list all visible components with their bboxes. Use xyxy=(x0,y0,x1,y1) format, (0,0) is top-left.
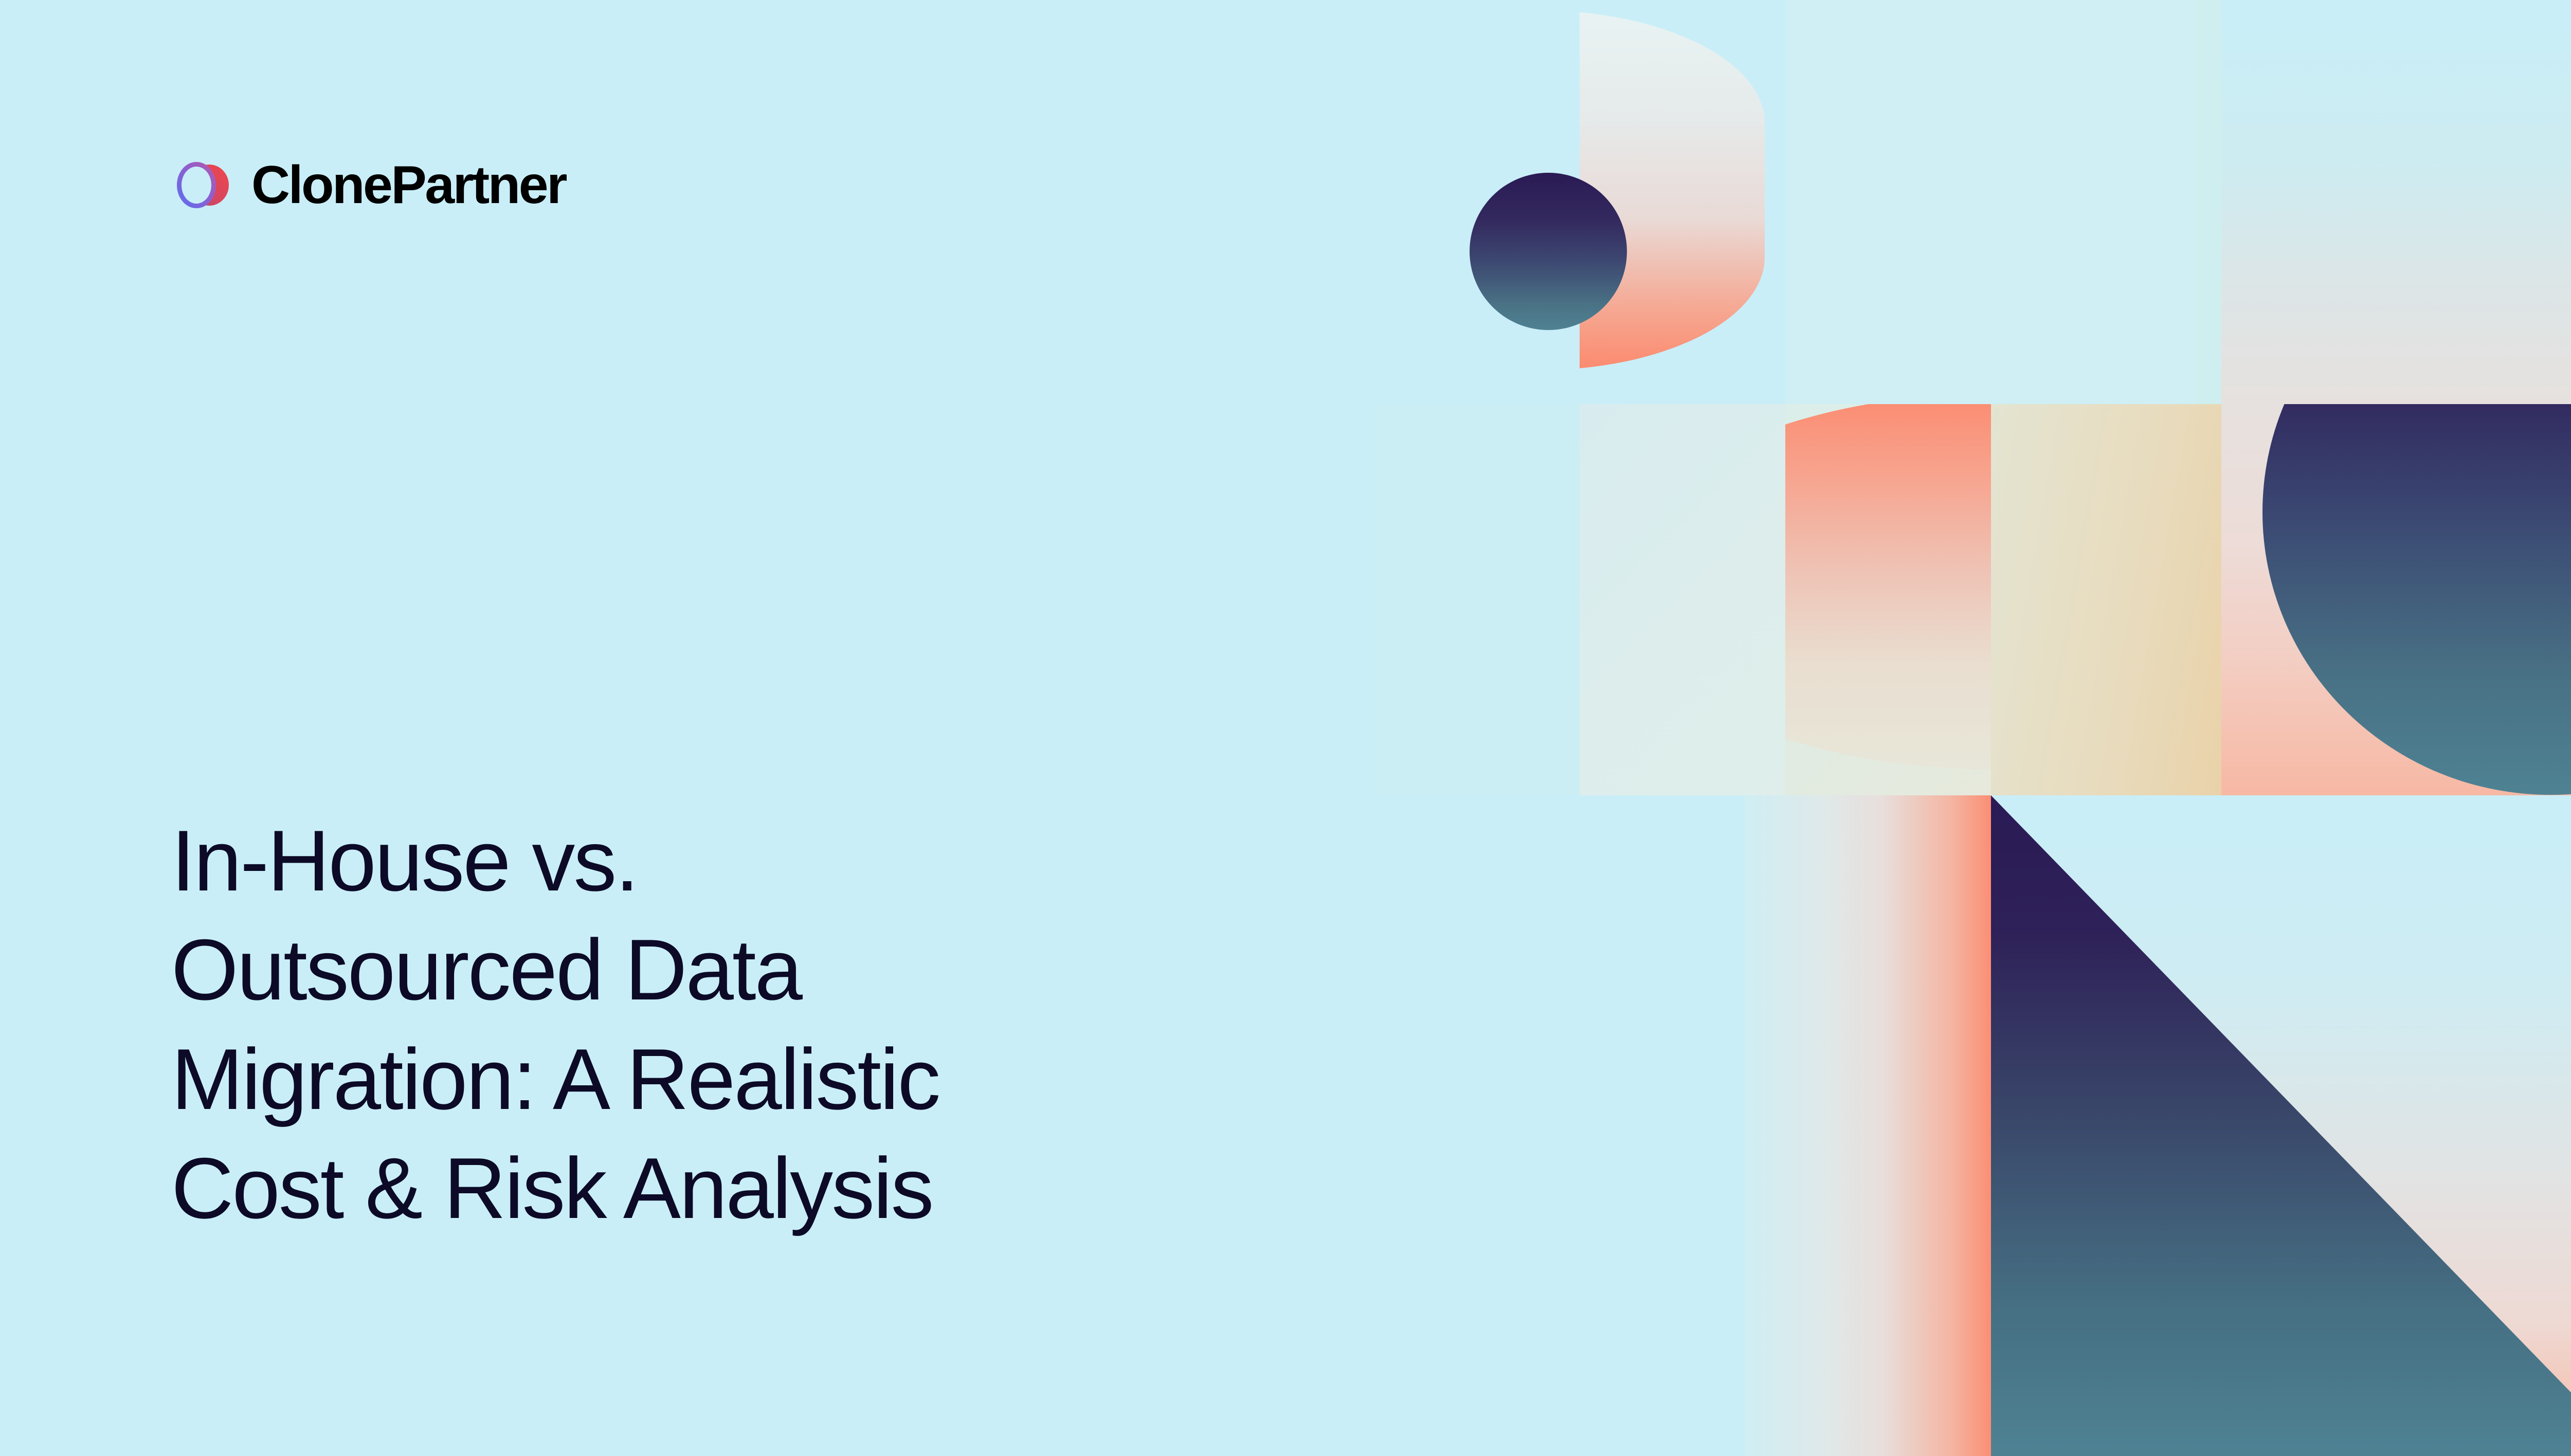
headline-line-1: In-House vs. xyxy=(171,806,1364,916)
headline-line-2: Outsourced Data xyxy=(171,915,1364,1025)
small-circle-navy-teal xyxy=(1470,173,1627,330)
page-title: In-House vs. Outsourced Data Migration: … xyxy=(171,806,1364,1243)
decor-cell-r2c6 xyxy=(2221,404,2571,795)
decor-cell-r3c1 xyxy=(1374,795,1580,1456)
decor-cell-r1c3 xyxy=(1785,0,1991,404)
blush-gradient-square xyxy=(1991,795,2571,1456)
headline-line-4: Cost & Risk Analysis xyxy=(171,1134,1364,1243)
decor-cell-r2c1 xyxy=(1374,404,1580,795)
decor-cell-r2c3 xyxy=(1785,404,1991,795)
decor-cell-r3c2 xyxy=(1580,795,1744,1456)
quarter-circle-navy-teal xyxy=(2262,404,2571,795)
decor-cell-r1c6 xyxy=(2221,0,2571,404)
decor-cell-r2c4-sand-rectangle xyxy=(1991,404,2221,795)
decor-cell-r2c2 xyxy=(1580,404,1785,795)
half-circle-left-coral-white xyxy=(1785,404,1991,769)
coral-gradient-band xyxy=(1744,795,1991,1456)
brand-wordmark: ClonePartner xyxy=(251,158,566,212)
decorative-graphic-panel xyxy=(1374,0,2571,1456)
decor-cell-r1c2 xyxy=(1580,0,1785,404)
headline-line-3: Migration: A Realistic xyxy=(171,1025,1364,1134)
brand-logo[interactable]: ClonePartner xyxy=(171,154,566,216)
half-circle-right-white-coral xyxy=(1580,10,1765,370)
decor-cell-r1c5 xyxy=(2197,0,2221,404)
decor-cell-r1c4 xyxy=(1991,0,2197,404)
triangle-navy-teal xyxy=(1991,795,2571,1456)
two-overlapping-circles-icon xyxy=(171,156,234,214)
